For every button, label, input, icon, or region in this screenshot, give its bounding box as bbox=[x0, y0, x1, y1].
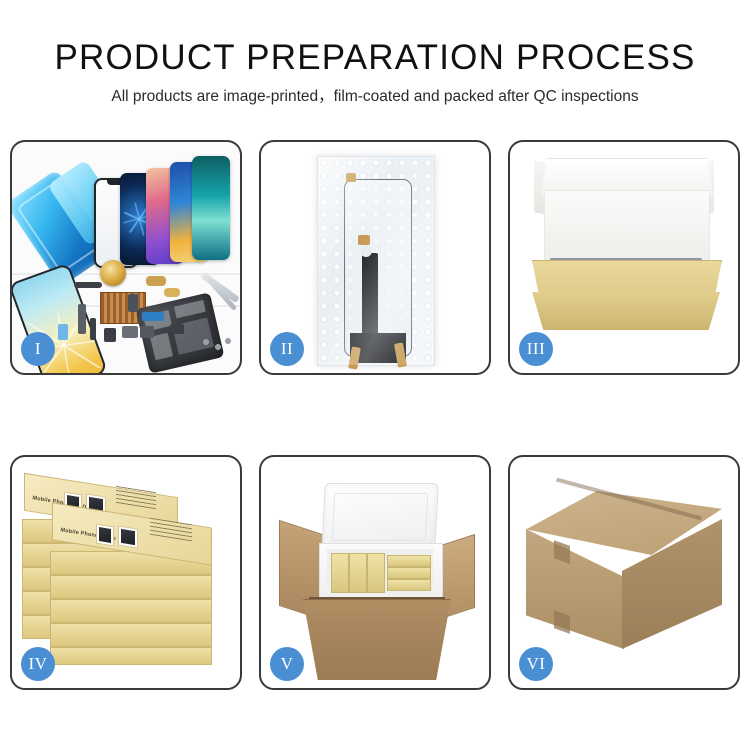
spare-part-icon bbox=[90, 318, 96, 340]
stacked-box bbox=[50, 647, 212, 665]
page-header: PRODUCT PREPARATION PROCESS All products… bbox=[0, 0, 750, 108]
wrapped-part bbox=[344, 179, 412, 357]
step-card-3[interactable]: III bbox=[508, 140, 740, 375]
inner-yellow-box bbox=[387, 555, 431, 567]
spare-part-icon bbox=[128, 294, 138, 312]
stacked-box bbox=[50, 599, 212, 623]
spare-part-icon bbox=[170, 324, 184, 334]
process-steps-grid: I II III bbox=[10, 140, 740, 685]
box-lid-panel bbox=[544, 190, 710, 264]
step-card-6[interactable]: VI bbox=[508, 455, 740, 690]
stacked-box bbox=[50, 575, 212, 599]
carton-body bbox=[303, 599, 451, 680]
page-subtitle: All products are image-printed，film-coat… bbox=[0, 86, 750, 108]
inner-yellow-box bbox=[349, 553, 367, 593]
step-badge-1: I bbox=[21, 332, 55, 366]
spare-part-icon bbox=[78, 304, 86, 334]
inner-yellow-box bbox=[387, 579, 431, 591]
inner-yellow-box bbox=[331, 553, 349, 593]
page-title: PRODUCT PREPARATION PROCESS bbox=[0, 38, 750, 78]
spare-part-icon bbox=[164, 288, 180, 297]
screws-icon bbox=[202, 338, 232, 354]
spare-part-icon bbox=[146, 276, 166, 286]
inner-box-front bbox=[532, 292, 720, 330]
foam-box-lid bbox=[321, 483, 439, 551]
step-card-1[interactable]: I bbox=[10, 140, 242, 375]
step-card-4[interactable]: Mobile Phone Spare Parts Mobile Phone Sp… bbox=[10, 455, 242, 690]
carton-left-face bbox=[526, 529, 624, 649]
spare-part-icon bbox=[140, 326, 154, 338]
box-window bbox=[96, 524, 114, 547]
step-card-2[interactable]: II bbox=[259, 140, 491, 375]
step-badge-6: VI bbox=[519, 647, 553, 681]
step-badge-3: III bbox=[519, 332, 553, 366]
gold-tab bbox=[358, 235, 370, 245]
spare-part-icon bbox=[74, 282, 102, 288]
spare-part-icon bbox=[58, 324, 68, 340]
phone-screen-icon bbox=[192, 156, 230, 260]
inner-yellow-box bbox=[387, 567, 431, 579]
spare-part-icon bbox=[142, 312, 164, 321]
step-badge-4: IV bbox=[21, 647, 55, 681]
spare-part-icon bbox=[122, 326, 138, 338]
gold-tab bbox=[346, 173, 356, 182]
step-card-5[interactable]: V bbox=[259, 455, 491, 690]
step-badge-5: V bbox=[270, 647, 304, 681]
bubble-wrap-bag bbox=[317, 156, 435, 366]
step-badge-2: II bbox=[270, 332, 304, 366]
copper-coil-icon bbox=[100, 260, 126, 286]
spare-part-icon bbox=[104, 328, 116, 342]
stacked-box bbox=[50, 623, 212, 647]
camera-ring bbox=[360, 245, 372, 257]
box-window bbox=[118, 525, 138, 548]
inner-yellow-box bbox=[367, 553, 385, 593]
